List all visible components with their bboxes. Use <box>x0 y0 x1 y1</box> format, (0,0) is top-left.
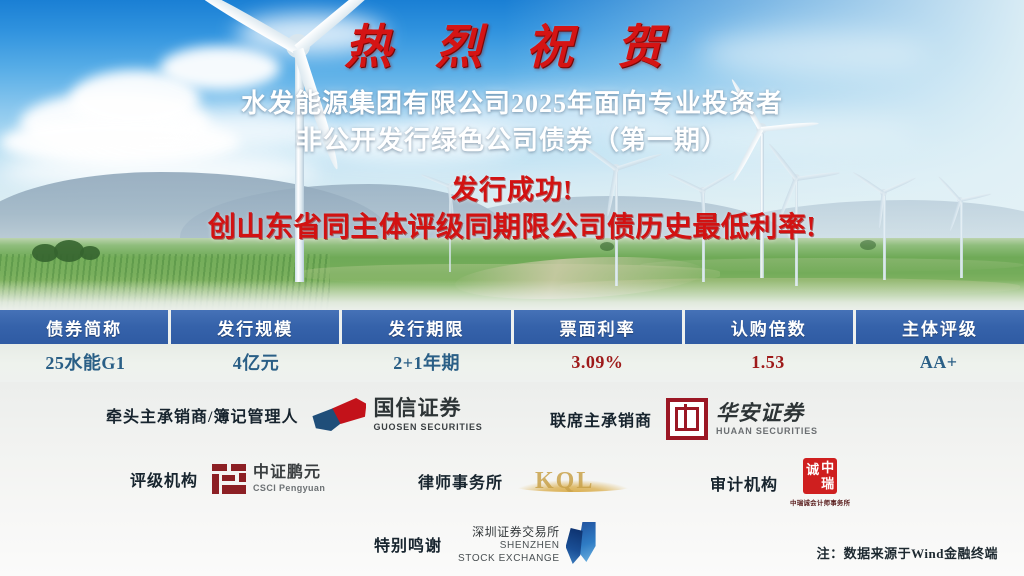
csci-logo-en: CSCI Pengyuan <box>253 483 325 493</box>
lead-underwriter-label: 牵头主承销商/簿记管理人 <box>106 403 298 427</box>
guosen-logo-en: GUOSEN SECURITIES <box>373 422 482 432</box>
record-rate-line: 创山东省同主体评级同期限公司债历史最低利率! <box>0 205 1024 245</box>
table-header-row: 债券简称 发行规模 发行期限 票面利率 认购倍数 主体评级 <box>0 310 1024 344</box>
law-firm-label: 律师事务所 <box>418 469 503 493</box>
table-header-cell: 债券简称 <box>0 310 168 344</box>
partners-section: 牵头主承销商/簿记管理人 国信证券 GUOSEN SECURITIES 联席主承… <box>0 382 1024 576</box>
success-line: 发行成功! <box>0 168 1024 207</box>
table-cell-issuer-rating: AA+ <box>853 344 1024 380</box>
seal-char: 诚 <box>806 463 819 476</box>
tree-shape <box>80 246 100 260</box>
guosen-securities-logo: 国信证券 GUOSEN SECURITIES <box>312 398 482 432</box>
seal-char: 瑞 <box>821 477 834 490</box>
special-thanks-row: 特别鸣谢 深圳证券交易所 SHENZHEN STOCK EXCHANGE <box>374 522 598 566</box>
special-thanks-label: 特别鸣谢 <box>374 532 442 556</box>
rating-agency-label: 评级机构 <box>130 467 198 491</box>
shenzhen-stock-exchange-logo: 深圳证券交易所 SHENZHEN STOCK EXCHANGE <box>458 522 598 566</box>
szse-logo-cn: 深圳证券交易所 <box>472 523 560 540</box>
page-title: 热 烈 祝 贺 <box>0 8 1024 77</box>
joint-underwriter-row: 联席主承销商 华安证券 HUAAN SECURITIES <box>550 398 818 440</box>
table-header-cell: 认购倍数 <box>685 310 853 344</box>
huaan-seal-icon <box>666 398 708 440</box>
lead-underwriter-row: 牵头主承销商/簿记管理人 国信证券 GUOSEN SECURITIES <box>106 398 483 432</box>
table-cell-coupon-rate: 3.09% <box>512 344 683 380</box>
szse-logo-en-line1: SHENZHEN <box>500 540 560 553</box>
huaan-logo-en: HUAAN SECURITIES <box>716 426 818 436</box>
table-cell-bond-name: 25水能G1 <box>0 344 171 380</box>
guosen-mark-icon <box>312 398 366 432</box>
guosen-logo-cn: 国信证券 <box>373 398 482 420</box>
table-row: 25水能G1 4亿元 2+1年期 3.09% 1.53 AA+ <box>0 344 1024 380</box>
joint-underwriter-label: 联席主承销商 <box>550 407 652 431</box>
table-cell-subscription-multiple: 1.53 <box>683 344 854 380</box>
huaan-securities-logo: 华安证券 HUAAN SECURITIES <box>666 398 818 440</box>
zhongruicheng-caption: 中瑞诚会计师事务所 <box>790 497 850 507</box>
subtitle-line-1: 水发能源集团有限公司2025年面向专业投资者 <box>0 83 1024 120</box>
data-source-footnote: 注：数据来源于Wind金融终端 <box>817 543 998 562</box>
photo-bottom-fade <box>0 280 1024 312</box>
seal-char: 中 <box>821 461 834 474</box>
table-cell-tenor: 2+1年期 <box>341 344 512 380</box>
huaan-logo-cn: 华安证券 <box>716 402 818 424</box>
table-header-cell: 发行规模 <box>171 310 339 344</box>
bond-issuance-congratulation-poster: 热 烈 祝 贺 水发能源集团有限公司2025年面向专业投资者 非公开发行绿色公司… <box>0 0 1024 576</box>
table-header-cell: 发行期限 <box>342 310 510 344</box>
rating-agency-row: 评级机构 中证鹏元 CSCI Pengyuan <box>130 464 325 494</box>
csci-logo-cn: 中证鹏元 <box>253 465 325 482</box>
table-header-cell: 票面利率 <box>514 310 682 344</box>
szse-logo-en-line2: STOCK EXCHANGE <box>458 553 560 566</box>
law-firm-row: 律师事务所 KQL <box>418 466 633 496</box>
csci-pengyuan-logo: 中证鹏元 CSCI Pengyuan <box>212 464 325 494</box>
table-cell-issue-size: 4亿元 <box>171 344 342 380</box>
auditor-row: 审计机构 诚 中 瑞 中瑞诚会计师事务所 <box>710 458 850 507</box>
zhongruicheng-logo: 诚 中 瑞 中瑞诚会计师事务所 <box>790 458 850 507</box>
kql-law-firm-logo: KQL <box>513 466 633 496</box>
auditor-label: 审计机构 <box>710 471 778 495</box>
szse-shield-icon <box>564 522 598 566</box>
csci-mark-icon <box>212 464 246 494</box>
subtitle-line-2: 非公开发行绿色公司债券（第一期） <box>0 120 1024 157</box>
table-header-cell: 主体评级 <box>856 310 1024 344</box>
kql-logo-text: KQL <box>535 468 594 495</box>
bond-summary-table: 债券简称 发行规模 发行期限 票面利率 认购倍数 主体评级 25水能G1 4亿元… <box>0 310 1024 380</box>
zhongruicheng-seal-icon: 诚 中 瑞 <box>803 458 837 494</box>
